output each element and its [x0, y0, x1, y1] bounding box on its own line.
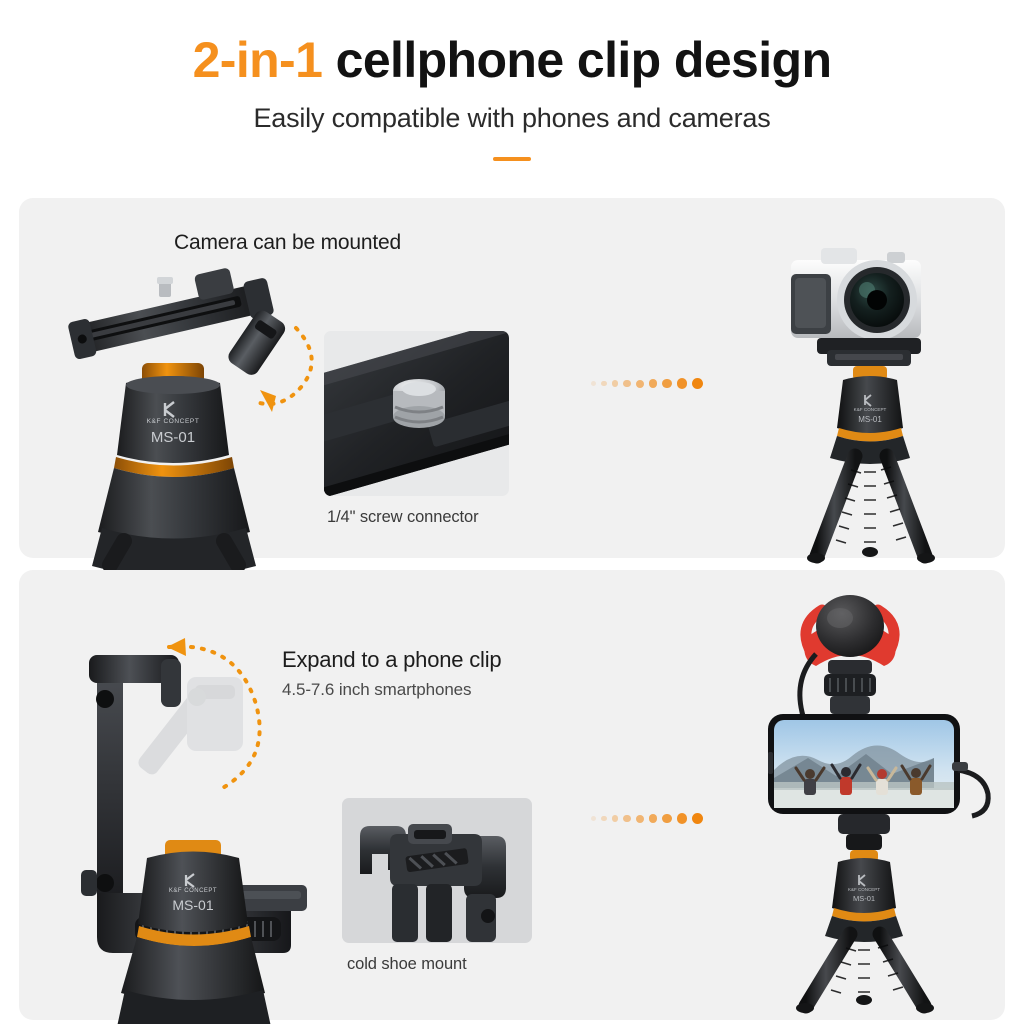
progress-dot [623, 380, 630, 387]
progress-dot [601, 381, 607, 387]
rotation-arrow-icon [224, 318, 334, 428]
panel-1-heading: Camera can be mounted [174, 231, 401, 255]
progress-dots-1 [591, 378, 703, 389]
progress-dot [636, 815, 644, 823]
progress-dot [591, 381, 596, 386]
svg-text:MS-01: MS-01 [151, 429, 195, 446]
screw-connector-inset-photo [324, 331, 509, 496]
page-subtitle: Easily compatible with phones and camera… [0, 103, 1024, 134]
panel-phone-clip: Expand to a phone clip 4.5-7.6 inch smar… [19, 570, 1005, 1020]
progress-dot [612, 815, 619, 822]
rotation-arrow-icon-2 [137, 625, 277, 805]
page-title: 2-in-1 cellphone clip design [0, 34, 1024, 87]
svg-text:K&F CONCEPT: K&F CONCEPT [147, 418, 200, 425]
progress-dot [591, 816, 596, 821]
title-rest: cellphone clip design [336, 32, 832, 88]
progress-dot [692, 378, 703, 389]
svg-text:K&F CONCEPT: K&F CONCEPT [854, 407, 887, 412]
cold-shoe-mount-inset-photo [342, 798, 532, 943]
phone-with-mic-on-tripod-photo: K&F CONCEPT MS-01 [754, 592, 994, 1012]
inset-2-caption: cold shoe mount [347, 955, 467, 974]
progress-dot [623, 815, 630, 822]
svg-text:MS-01: MS-01 [853, 894, 875, 903]
title-accent: 2-in-1 [193, 32, 323, 88]
progress-dot [649, 379, 658, 388]
progress-dot [662, 379, 672, 389]
progress-dot [601, 816, 607, 822]
progress-dot [677, 378, 687, 388]
progress-dots-2 [591, 813, 703, 824]
svg-text:MS-01: MS-01 [858, 415, 882, 424]
progress-dot [636, 380, 644, 388]
progress-dot [692, 813, 703, 824]
header-divider [493, 157, 531, 161]
progress-dot [677, 813, 687, 823]
progress-dot [612, 380, 619, 387]
header: 2-in-1 cellphone clip design Easily comp… [0, 0, 1024, 161]
inset-1-caption: 1/4" screw connector [327, 508, 479, 527]
camera-on-tripod-photo: K&F CONCEPT MS-01 [759, 238, 979, 568]
product-feature-page: 2-in-1 cellphone clip design Easily comp… [0, 0, 1024, 1024]
svg-text:K&F CONCEPT: K&F CONCEPT [848, 887, 880, 892]
svg-text:MS-01: MS-01 [172, 897, 213, 913]
svg-text:K&F CONCEPT: K&F CONCEPT [169, 888, 217, 894]
ball-head-lower-photo: K&F CONCEPT MS-01 [79, 840, 309, 1024]
progress-dot [649, 814, 658, 823]
progress-dot [662, 814, 672, 824]
panel-camera-mount: Camera can be mounted [19, 198, 1005, 558]
